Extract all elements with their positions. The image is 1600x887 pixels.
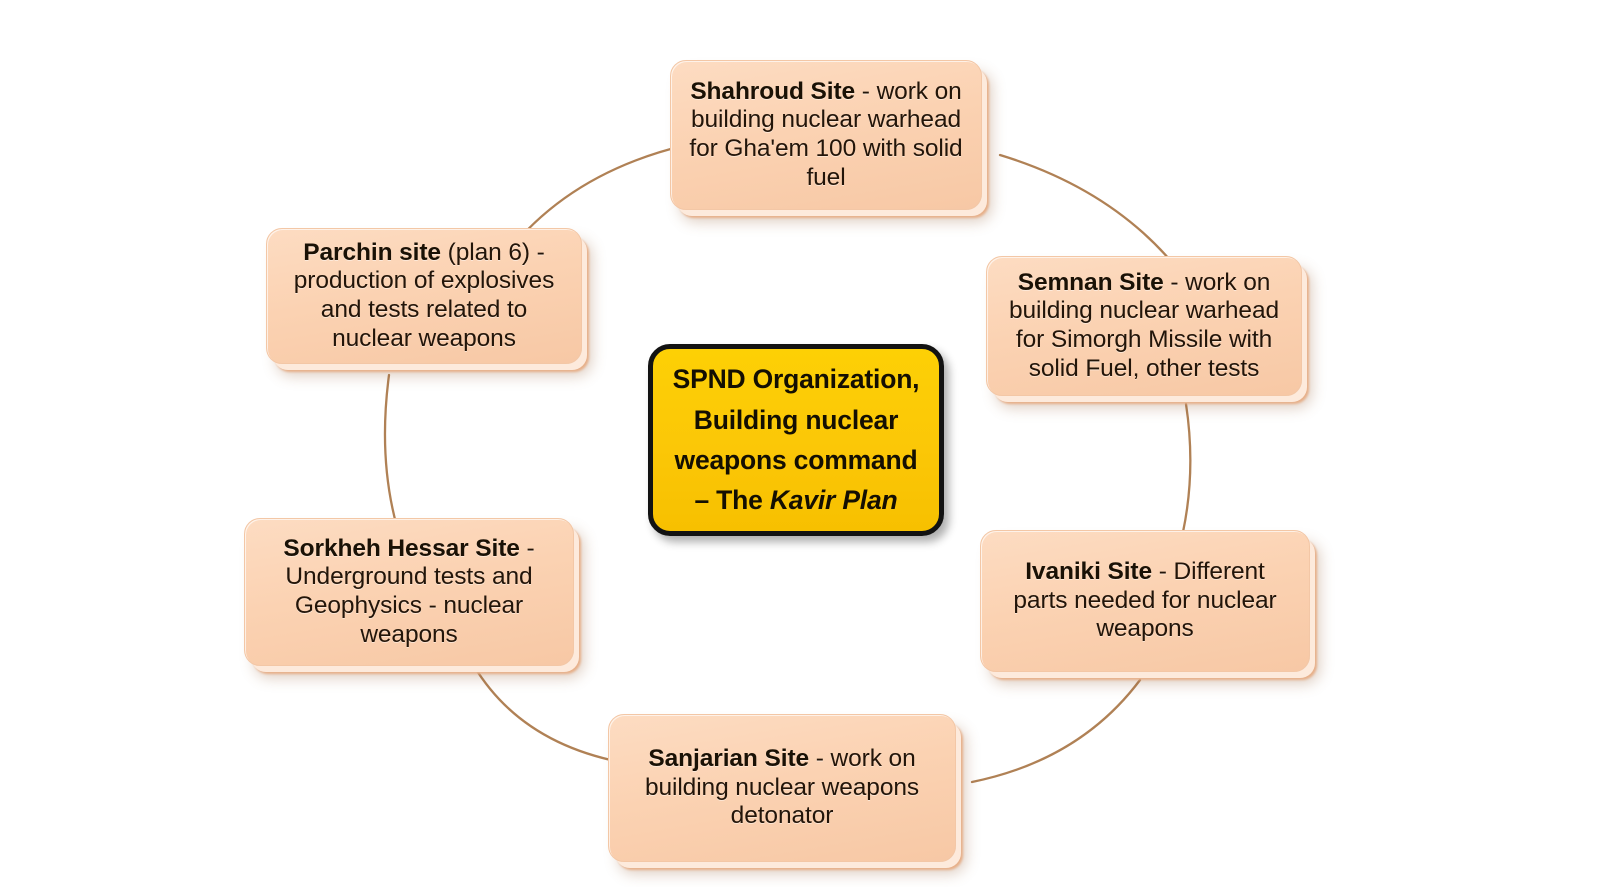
node-sanjarian-site[interactable]: Sanjarian Site - work on building nuclea… [608, 714, 956, 862]
node-parchin-text: Parchin site (plan 6) - production of ex… [281, 239, 567, 354]
node-parchin-description: production of explosives and tests relat… [294, 267, 554, 351]
node-semnan-title: Semnan Site [1018, 269, 1164, 296]
diagram-canvas: SPND Organization, Building nuclear weap… [0, 0, 1600, 887]
node-shahroud-text: Shahroud Site - work on building nuclear… [685, 78, 967, 193]
arc-semnan-to-ivaniki [1183, 404, 1190, 532]
node-semnan-site[interactable]: Semnan Site - work on building nuclear w… [986, 256, 1302, 396]
arc-sorkheh-to-parchin [385, 375, 397, 527]
center-line-4-prefix: – The [694, 485, 769, 515]
center-node-text: SPND Organization, Building nuclear weap… [673, 359, 920, 520]
node-sorkheh-hessar-site[interactable]: Sorkheh Hessar Site - Underground tests … [244, 518, 574, 666]
node-sorkheh-text: Sorkheh Hessar Site - Underground tests … [259, 535, 559, 650]
node-sorkheh-title: Sorkheh Hessar Site [283, 535, 519, 562]
node-shahroud-separator: - [855, 78, 876, 105]
arc-ivaniki-to-sanjarian [972, 680, 1140, 782]
node-semnan-text: Semnan Site - work on building nuclear w… [1001, 269, 1287, 384]
center-line-3: weapons command [675, 445, 918, 475]
node-sanjarian-separator: - [809, 745, 830, 772]
arc-shahroud-to-semnan [1000, 155, 1180, 272]
node-parchin-site[interactable]: Parchin site (plan 6) - production of ex… [266, 228, 582, 364]
node-sanjarian-text: Sanjarian Site - work on building nuclea… [623, 745, 941, 831]
node-shahroud-title: Shahroud Site [690, 78, 855, 105]
node-sorkheh-separator: - [520, 535, 535, 562]
node-ivaniki-text: Ivaniki Site - Different parts needed fo… [995, 558, 1295, 644]
node-parchin-separator: (plan 6) - [441, 239, 545, 266]
node-ivaniki-separator: - [1152, 558, 1173, 585]
node-sorkheh-description: Underground tests and Geophysics - nucle… [285, 563, 532, 647]
node-ivaniki-site[interactable]: Ivaniki Site - Different parts needed fo… [980, 530, 1310, 672]
node-semnan-separator: - [1164, 269, 1185, 296]
node-shahroud-site[interactable]: Shahroud Site - work on building nuclear… [670, 60, 982, 210]
arc-sanjarian-to-sorkheh [474, 666, 620, 762]
node-ivaniki-title: Ivaniki Site [1025, 558, 1152, 585]
center-line-2: Building nuclear [694, 405, 898, 435]
center-node-spnd[interactable]: SPND Organization, Building nuclear weap… [648, 344, 944, 536]
node-parchin-title: Parchin site [303, 239, 441, 266]
center-line-1: SPND Organization, [673, 364, 920, 394]
node-sanjarian-title: Sanjarian Site [648, 745, 809, 772]
center-line-4-emphasis: Kavir Plan [770, 485, 898, 515]
